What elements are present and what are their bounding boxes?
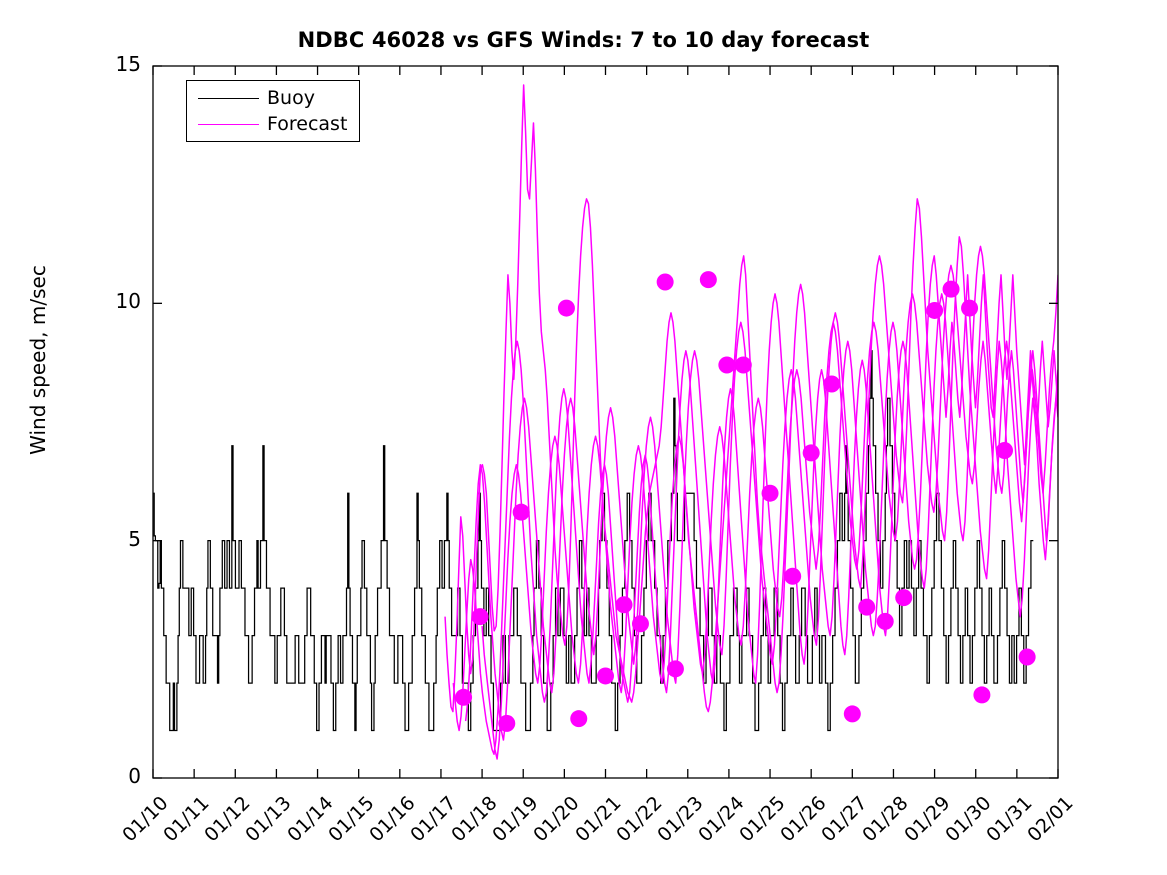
legend-swatch-forecast <box>198 124 259 125</box>
legend-item-buoy: Buoy <box>187 86 361 112</box>
forecast-marker <box>961 300 978 317</box>
forecast-marker <box>735 357 752 374</box>
forecast-marker <box>877 613 894 630</box>
forecast-marker <box>657 273 674 290</box>
forecast-marker <box>513 504 530 521</box>
forecast-marker <box>895 589 912 606</box>
forecast-marker <box>597 667 614 684</box>
forecast-marker <box>858 599 875 616</box>
forecast-marker <box>455 689 472 706</box>
forecast-marker <box>1019 648 1036 665</box>
legend-label-buoy: Buoy <box>267 85 315 111</box>
legend-label-forecast: Forecast <box>267 111 347 137</box>
forecast-marker <box>996 442 1013 459</box>
forecast-marker <box>498 715 515 732</box>
legend-item-forecast: Forecast <box>187 112 361 138</box>
forecast-marker <box>570 710 587 727</box>
forecast-marker <box>558 300 575 317</box>
forecast-marker <box>700 271 717 288</box>
chart-legend: Buoy Forecast <box>186 80 360 142</box>
forecast-marker <box>632 615 649 632</box>
forecast-marker <box>844 705 861 722</box>
forecast-marker <box>616 596 633 613</box>
legend-swatch-buoy <box>198 98 259 99</box>
y-tick-label: 5 <box>57 527 141 551</box>
forecast-marker <box>973 686 990 703</box>
forecast-marker <box>943 281 960 298</box>
forecast-trace-0 <box>445 85 1058 712</box>
y-tick-label: 10 <box>57 289 141 313</box>
forecast-marker <box>762 485 779 502</box>
plot-area <box>0 0 1167 875</box>
y-tick-label: 0 <box>57 764 141 788</box>
forecast-marker <box>472 608 489 625</box>
forecast-marker <box>926 302 943 319</box>
forecast-marker <box>667 660 684 677</box>
forecast-marker <box>784 568 801 585</box>
figure-canvas: NDBC 46028 vs GFS Winds: 7 to 10 day for… <box>0 0 1167 875</box>
forecast-marker <box>718 357 735 374</box>
forecast-marker <box>823 376 840 393</box>
forecast-marker <box>803 444 820 461</box>
y-tick-label: 15 <box>57 52 141 76</box>
